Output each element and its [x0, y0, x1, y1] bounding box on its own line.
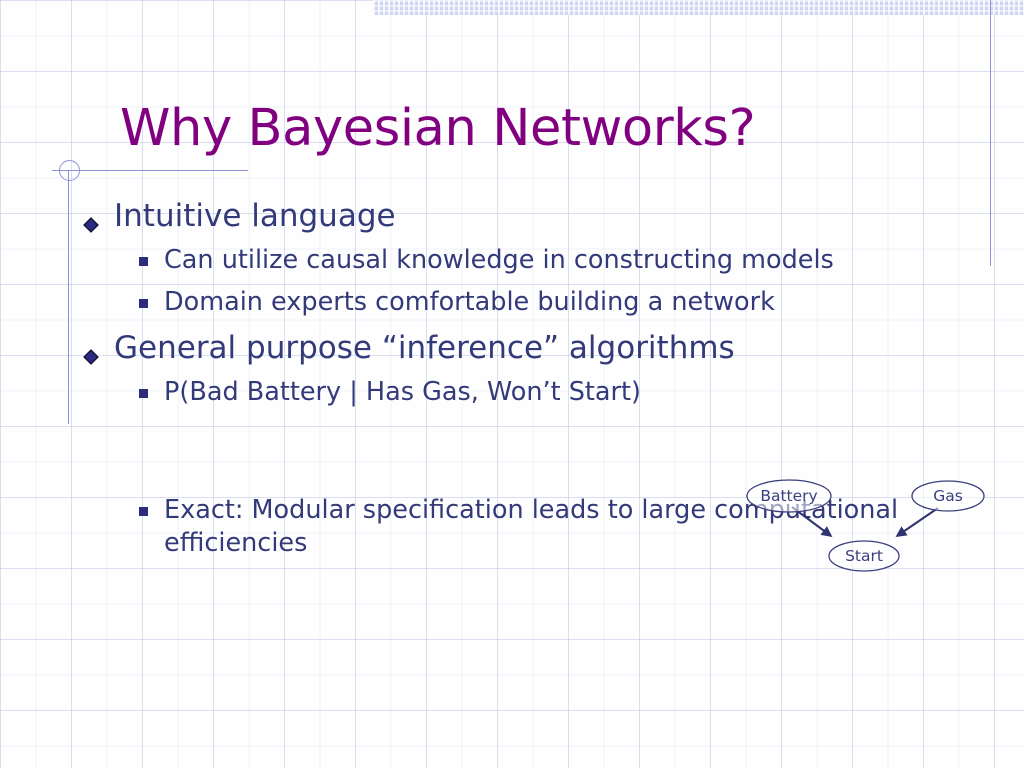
node-start: Start	[829, 541, 899, 571]
list-item-label: Domain experts comfortable building a ne…	[164, 287, 775, 317]
left-vertical-rule	[68, 170, 69, 424]
diamond-bullet-icon	[81, 205, 101, 225]
list-item-label: Intuitive language	[114, 198, 396, 234]
slide-canvas: Why Bayesian Networks? Intuitive languag…	[0, 0, 1024, 768]
node-battery-label: Battery	[760, 487, 817, 505]
decorative-circle-icon	[59, 160, 80, 181]
top-decorative-band	[373, 0, 1024, 15]
square-bullet-icon	[139, 389, 148, 398]
node-gas: Gas	[912, 481, 984, 511]
list-item-level1: General purpose “inference” algorithms	[78, 328, 978, 368]
node-gas-label: Gas	[933, 487, 963, 505]
list-item-label: Can utilize causal knowledge in construc…	[164, 245, 834, 275]
square-bullet-icon	[139, 299, 148, 308]
list-item-level2: Can utilize causal knowledge in construc…	[78, 244, 964, 277]
list-item-level2: Domain experts comfortable building a ne…	[78, 286, 964, 319]
title-underline-rule	[52, 170, 248, 171]
list-item-level2: P(Bad Battery | Has Gas, Won’t Start)	[78, 376, 964, 409]
bayesian-network-diagram: Battery Gas Start	[742, 472, 1004, 582]
right-vertical-rule	[990, 0, 991, 266]
node-start-label: Start	[845, 547, 883, 565]
square-bullet-icon	[139, 507, 148, 516]
edge-gas-start	[897, 508, 938, 536]
diamond-bullet-icon	[81, 337, 101, 357]
node-battery: Battery	[747, 480, 831, 512]
square-bullet-icon	[139, 257, 148, 266]
list-item-label: General purpose “inference” algorithms	[114, 330, 735, 366]
page-title: Why Bayesian Networks?	[120, 101, 940, 157]
list-item-label: P(Bad Battery | Has Gas, Won’t Start)	[164, 377, 641, 407]
list-item-level1: Intuitive language	[78, 196, 978, 236]
